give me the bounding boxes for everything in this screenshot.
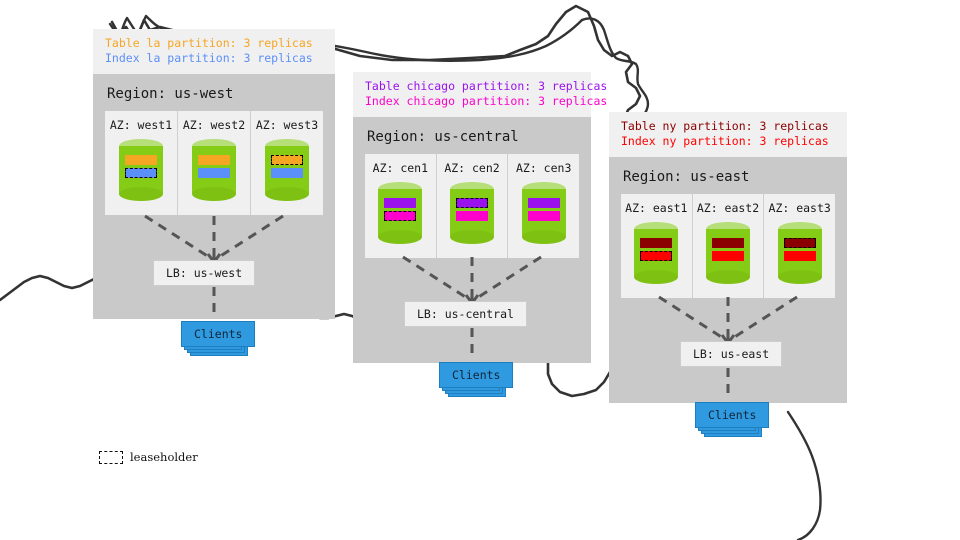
clients-label[interactable]: Clients bbox=[439, 362, 513, 388]
region-card-us-west: Table la partition: 3 replicas Index la … bbox=[93, 29, 335, 319]
partition-header-us-central: Table chicago partition: 3 replicas Inde… bbox=[353, 72, 591, 117]
partition-header-us-west: Table la partition: 3 replicas Index la … bbox=[93, 29, 335, 74]
partition-line-table: Table chicago partition: 3 replicas bbox=[365, 79, 579, 94]
region-body-us-central: Region: us-central AZ: cen1 AZ: cen2 bbox=[353, 117, 591, 363]
region-body-us-east: Region: us-east AZ: east1 AZ: east2 bbox=[609, 157, 847, 403]
partition-header-us-east: Table ny partition: 3 replicas Index ny … bbox=[609, 112, 847, 157]
clients-us-west[interactable]: Clients bbox=[181, 321, 255, 347]
clients-label[interactable]: Clients bbox=[181, 321, 255, 347]
load-balancer-us-east[interactable]: LB: us-east bbox=[680, 341, 782, 367]
partition-line-index: Index ny partition: 3 replicas bbox=[621, 134, 835, 149]
leaseholder-swatch-icon bbox=[99, 451, 123, 464]
clients-us-central[interactable]: Clients bbox=[439, 362, 513, 388]
clients-label[interactable]: Clients bbox=[695, 402, 769, 428]
partition-line-table: Table ny partition: 3 replicas bbox=[621, 119, 835, 134]
region-card-us-east: Table ny partition: 3 replicas Index ny … bbox=[609, 112, 847, 403]
load-balancer-us-central[interactable]: LB: us-central bbox=[404, 301, 527, 327]
region-card-us-central: Table chicago partition: 3 replicas Inde… bbox=[353, 72, 591, 363]
partition-line-table: Table la partition: 3 replicas bbox=[105, 36, 323, 51]
clients-us-east[interactable]: Clients bbox=[695, 402, 769, 428]
legend: leaseholder bbox=[99, 450, 198, 464]
region-body-us-west: Region: us-west AZ: west1 AZ: west2 bbox=[93, 74, 335, 319]
legend-label: leaseholder bbox=[130, 450, 198, 464]
load-balancer-us-west[interactable]: LB: us-west bbox=[153, 260, 255, 286]
partition-line-index: Index la partition: 3 replicas bbox=[105, 51, 323, 66]
partition-line-index: Index chicago partition: 3 replicas bbox=[365, 94, 579, 109]
